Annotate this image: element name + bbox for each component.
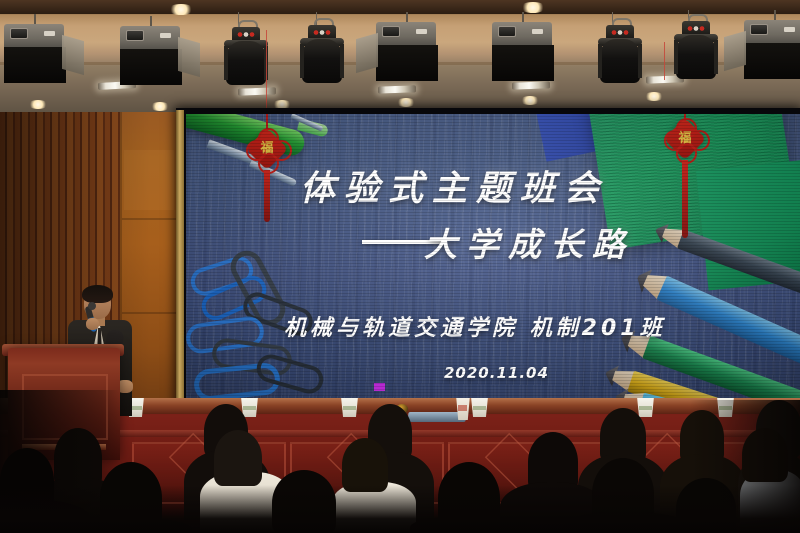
downlight	[150, 102, 170, 111]
light-lens	[498, 26, 516, 37]
safety-wire	[664, 42, 665, 80]
light-leds	[686, 24, 706, 33]
light-lens	[750, 24, 768, 35]
paper-cup-label	[343, 406, 356, 410]
downlight	[520, 96, 540, 105]
downlight	[28, 100, 48, 109]
light-arm	[340, 44, 344, 78]
light-barndoor	[744, 43, 800, 79]
light-knob	[784, 27, 795, 32]
screen-gold-trim	[176, 110, 184, 400]
light-leds	[312, 28, 332, 37]
light-barndoor	[4, 47, 66, 83]
light-barndoor	[120, 49, 182, 85]
speaker-hair	[82, 285, 113, 303]
downlight	[644, 92, 664, 101]
light-lens	[126, 30, 144, 41]
light-arm	[598, 44, 602, 78]
speaker-hand-holding-mic	[86, 318, 99, 330]
light-knob	[416, 29, 427, 34]
light-knob	[44, 31, 55, 36]
light-knob	[160, 33, 171, 38]
light-flap	[724, 31, 746, 71]
photo-scene: 福 福 体验式主题班会 大学成长路 机械与轨道交通学院 机制201班 2020.…	[0, 0, 800, 533]
light-flap	[356, 33, 378, 73]
paper-cup-logo	[458, 405, 467, 411]
light-arm	[224, 46, 228, 80]
light-arm	[300, 44, 304, 78]
screen-pixel-artifact	[374, 383, 385, 391]
slide-subtitle: 机械与轨道交通学院 机制201班	[284, 310, 666, 342]
light-arm	[674, 40, 678, 74]
light-lens	[382, 26, 400, 37]
ceiling-beam	[0, 0, 800, 14]
light-can	[600, 39, 640, 83]
microphone-head	[88, 302, 96, 310]
light-knob	[532, 29, 543, 34]
paper-cup-label	[243, 406, 256, 410]
light-can	[676, 35, 716, 79]
downlight	[396, 98, 416, 107]
led-screen[interactable]: 福 福 体验式主题班会 大学成长路 机械与轨道交通学院 机制201班 2020.…	[186, 114, 800, 399]
downlight-strip	[238, 87, 276, 95]
downlight	[168, 4, 194, 15]
light-can	[226, 41, 266, 85]
light-barndoor	[376, 45, 438, 81]
light-flap	[62, 35, 84, 75]
paper-cup-label	[473, 406, 486, 410]
slide-title-line-1: 体验式主题班会	[300, 160, 608, 211]
slide-date: 2020.11.04	[444, 364, 549, 382]
foreground-shadow-bottom	[0, 485, 800, 533]
audience-head	[214, 430, 262, 486]
downlight-strip	[378, 85, 416, 93]
light-leds	[610, 28, 630, 37]
light-leds	[236, 30, 256, 39]
light-barndoor	[492, 45, 554, 81]
audience-head	[342, 438, 388, 492]
light-can	[302, 39, 342, 83]
light-flap	[178, 37, 200, 77]
paper-cup-label	[639, 406, 652, 410]
downlight-strip	[512, 81, 550, 89]
slide-text-layer: 体验式主题班会 大学成长路 机械与轨道交通学院 机制201班 2020.11.0…	[186, 114, 800, 399]
slide-title-line-2: 大学成长路	[424, 218, 634, 266]
light-lens	[10, 28, 28, 39]
light-arm	[714, 40, 718, 74]
light-arm	[638, 44, 642, 78]
